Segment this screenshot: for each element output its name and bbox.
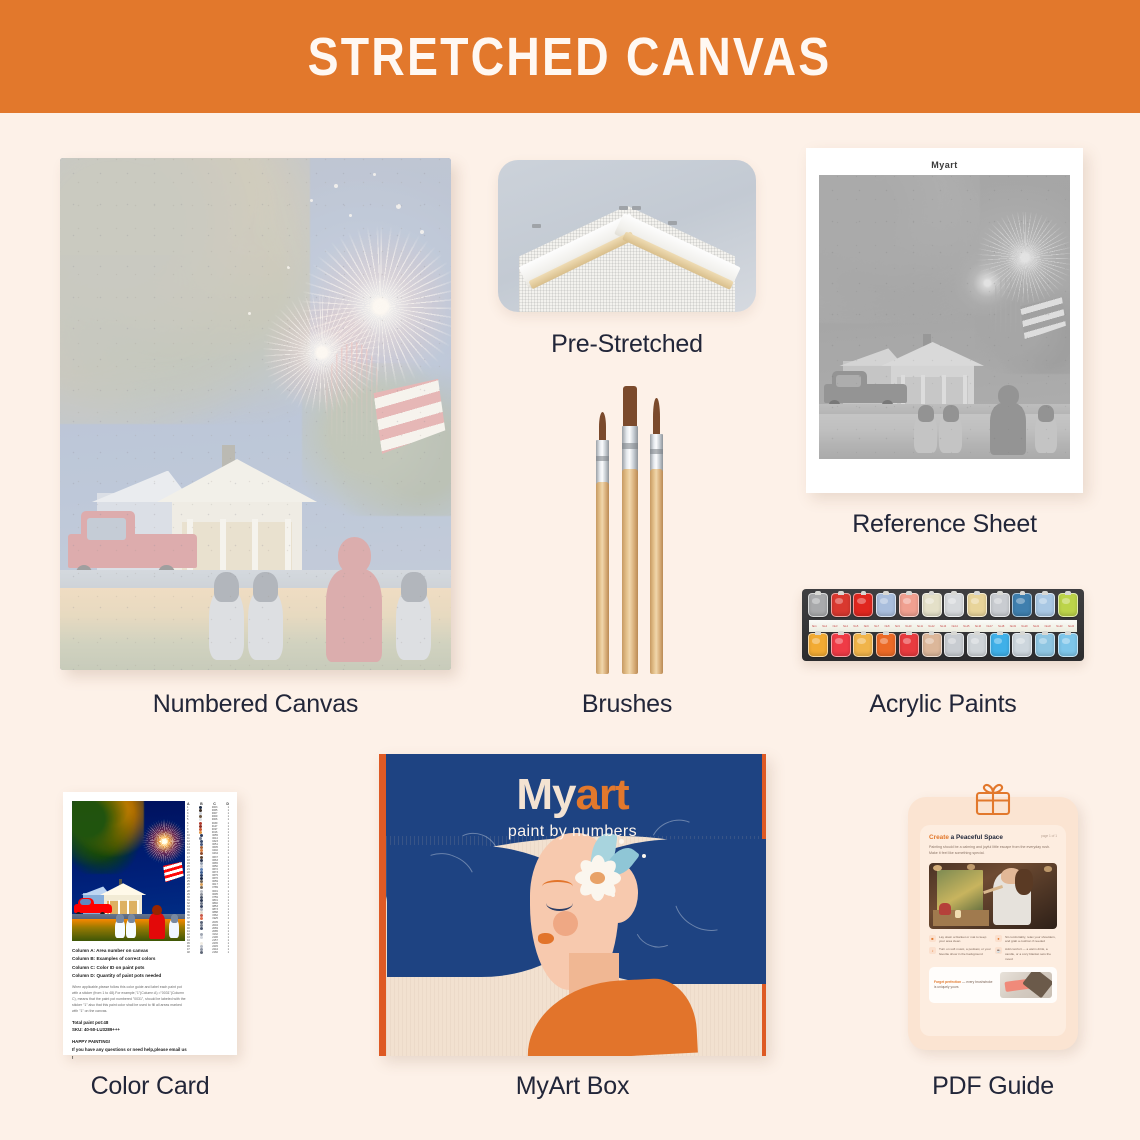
staple-1	[619, 206, 628, 210]
pdf-guide-image: page 1 of 1 Create a Peaceful Space Pain…	[908, 797, 1078, 1050]
paint-pot-number: No.13	[940, 625, 946, 628]
sku-code: SKU: 40-50-LU3289+++	[72, 1026, 188, 1034]
paint-pot[interactable]	[831, 633, 851, 657]
brush-small	[596, 412, 609, 674]
brushes-image	[594, 386, 666, 674]
contact-line: If you have any questions or need help,p…	[72, 1046, 188, 1062]
staple-3	[668, 221, 677, 225]
artwork-dog-3	[396, 588, 431, 660]
pdf-tip-item: ♪Turn on soft music, a podcast, or your …	[929, 947, 991, 961]
color-card-row: 4821661	[187, 951, 229, 954]
caption-pre-stretched: Pre-Stretched	[498, 330, 756, 359]
paint-pot-number: No.14	[952, 625, 958, 628]
logo-tagline: paint by numbers	[379, 823, 766, 841]
pdf-tip-icon: ☕	[995, 947, 1002, 954]
caption-pdf-guide: PDF Guide	[908, 1072, 1078, 1101]
paint-pot[interactable]	[922, 593, 942, 617]
paint-pot[interactable]	[1012, 633, 1032, 657]
paint-pot-number: No.18	[998, 625, 1004, 628]
pdf-note-accent: Forget perfection	[934, 980, 961, 984]
paint-pot-number: No.24	[1068, 625, 1074, 628]
paint-pot[interactable]	[853, 593, 873, 617]
caption-myart-box: MyArt Box	[379, 1072, 766, 1101]
paint-pot-row-bottom	[808, 633, 1078, 657]
legend-column-b: Column B: Examples of correct colors	[72, 955, 188, 963]
legend-column-a: Column A: Area number on canvas	[72, 947, 188, 955]
color-card-artwork	[72, 801, 185, 941]
pdf-tip-text: Lay down a blanket or mat to keep your a…	[939, 935, 991, 945]
pdf-heading-accent: Create	[929, 834, 949, 841]
caption-reference-sheet: Reference Sheet	[806, 510, 1083, 539]
legend-column-d: Column D: Quantity of paint pots needed	[72, 972, 188, 980]
artwork-us-flag	[377, 383, 443, 450]
paint-pot[interactable]	[808, 633, 828, 657]
paint-pot[interactable]	[853, 633, 873, 657]
paint-pot-number: No.20	[1021, 625, 1027, 628]
paint-pot-number: No.3	[833, 625, 838, 628]
pdf-heading: Create a Peaceful Space	[929, 834, 1057, 841]
myart-box-image: Myart paint by numbers	[379, 754, 766, 1056]
reference-sheet-artwork	[819, 175, 1070, 459]
paint-pot[interactable]	[1058, 633, 1078, 657]
pdf-note: Forget perfection — every brushstroke is…	[929, 967, 1057, 1003]
paint-pot-number: No.9	[895, 625, 900, 628]
pdf-tip-text: Turn on soft music, a podcast, or your f…	[939, 947, 991, 961]
paint-pot-number: No.15	[963, 625, 969, 628]
paint-pot-number: No.16	[975, 625, 981, 628]
total-paint-pot: Total paint pot:48	[72, 1019, 188, 1027]
legend-column-c: Column C: Color ID on paint pots	[72, 964, 188, 972]
pdf-intro: Painting should be a calming and joyful …	[929, 845, 1057, 857]
paint-pot-number: No.7	[874, 625, 879, 628]
myart-logo: Myart paint by numbers	[379, 770, 766, 841]
paint-pot-number: No.12	[928, 625, 934, 628]
pdf-tip-text: Add comfort — a warm drink, a candle, or…	[1005, 947, 1057, 961]
color-card-note: When applicable,please follow this color…	[72, 984, 188, 1015]
pdf-tips-list: ■Lay down a blanket or mat to keep your …	[929, 935, 1057, 962]
paint-pot-number: No.6	[864, 625, 869, 628]
pdf-tip-item: ●Sit comfortably, relax your shoulders, …	[995, 935, 1057, 945]
paint-pot[interactable]	[990, 593, 1010, 617]
paint-pot-number: No.8	[885, 625, 890, 628]
pdf-tip-text: Sit comfortably, relax your shoulders, a…	[1005, 935, 1057, 945]
brush-round	[650, 398, 663, 674]
happy-painting: HAPPY PAINTING!	[72, 1038, 188, 1046]
paint-pot[interactable]	[1058, 593, 1078, 617]
pdf-page-number: page 1 of 1	[1041, 834, 1057, 838]
paint-pot-number: No.17	[987, 625, 993, 628]
paint-pot[interactable]	[922, 633, 942, 657]
canvas-artwork	[60, 158, 451, 670]
paint-pot-number: No.21	[1033, 625, 1039, 628]
paint-pot-number: No.2	[822, 625, 827, 628]
paint-pot[interactable]	[876, 593, 896, 617]
paint-pot-number: No.10	[905, 625, 911, 628]
color-swatch	[200, 951, 203, 954]
pdf-note-image	[1000, 972, 1052, 998]
reference-sheet-image: Myart	[806, 148, 1083, 493]
staple-4	[532, 224, 541, 228]
paint-tray-label: No.1No.2No.3No.4No.5No.6No.7No.8No.9No.1…	[809, 620, 1077, 632]
logo-my-text: My	[516, 770, 575, 819]
paint-pot[interactable]	[1035, 633, 1055, 657]
artwork-dog-1	[209, 588, 244, 660]
paint-pot[interactable]	[831, 593, 851, 617]
color-card-legend: Column A: Area number on canvas Column B…	[72, 947, 188, 1062]
gift-icon	[908, 779, 1078, 822]
caption-color-card: Color Card	[50, 1072, 250, 1101]
page-header: STRETCHED CANVAS	[0, 0, 1140, 113]
paint-pot-row-top	[808, 593, 1078, 617]
paint-pot[interactable]	[876, 633, 896, 657]
artwork-firework-tail	[326, 342, 381, 455]
paint-pot[interactable]	[990, 633, 1010, 657]
color-card-table: A B C D 10003120065130007140009150006160…	[187, 802, 229, 955]
pdf-photo	[929, 863, 1057, 929]
numbered-canvas-image	[60, 158, 451, 670]
page-title: STRETCHED CANVAS	[308, 26, 832, 88]
paint-pot-number: No.23	[1056, 625, 1062, 628]
logo-art-text: art	[575, 770, 628, 819]
paint-pot[interactable]	[1035, 593, 1055, 617]
color-card-image: Column A: Area number on canvas Column B…	[63, 792, 237, 1055]
paint-pot[interactable]	[967, 593, 987, 617]
pdf-page-content: page 1 of 1 Create a Peaceful Space Pain…	[920, 825, 1066, 1036]
paint-pot-number: No.22	[1045, 625, 1051, 628]
brush-flat	[622, 386, 638, 674]
caption-numbered-canvas: Numbered Canvas	[60, 690, 451, 719]
artwork-person	[322, 537, 385, 660]
caption-brushes: Brushes	[498, 690, 756, 719]
paint-pot-number: No.5	[853, 625, 858, 628]
paint-pot[interactable]	[944, 633, 964, 657]
paint-pot[interactable]	[944, 593, 964, 617]
pdf-tip-item: ■Lay down a blanket or mat to keep your …	[929, 935, 991, 945]
pdf-tip-icon: ■	[929, 935, 936, 942]
paint-pot-number: No.4	[843, 625, 848, 628]
caption-acrylic-paints: Acrylic Paints	[802, 690, 1084, 719]
paint-pot-number: No.1	[812, 625, 817, 628]
pdf-tip-icon: ●	[995, 935, 1002, 942]
paint-pot[interactable]	[899, 593, 919, 617]
paint-pot-number: No.19	[1010, 625, 1016, 628]
artwork-red-truck	[68, 511, 197, 578]
product-infographic: STRETCHED CANVAS	[0, 0, 1140, 1140]
paint-pot[interactable]	[967, 633, 987, 657]
paint-pot[interactable]	[1012, 593, 1032, 617]
artwork-dog-2	[248, 588, 283, 660]
paint-pot[interactable]	[808, 593, 828, 617]
paint-pot-number: No.11	[917, 625, 923, 628]
reference-sheet-logo: Myart	[819, 160, 1070, 170]
pdf-tip-item: ☕Add comfort — a warm drink, a candle, o…	[995, 947, 1057, 961]
pdf-heading-rest: a Peaceful Space	[949, 834, 1003, 841]
acrylic-paints-tray: No.1No.2No.3No.4No.5No.6No.7No.8No.9No.1…	[802, 589, 1084, 661]
staple-2	[632, 206, 641, 210]
pdf-tip-icon: ♪	[929, 947, 936, 954]
paint-pot[interactable]	[899, 633, 919, 657]
pre-stretched-image	[498, 160, 756, 312]
